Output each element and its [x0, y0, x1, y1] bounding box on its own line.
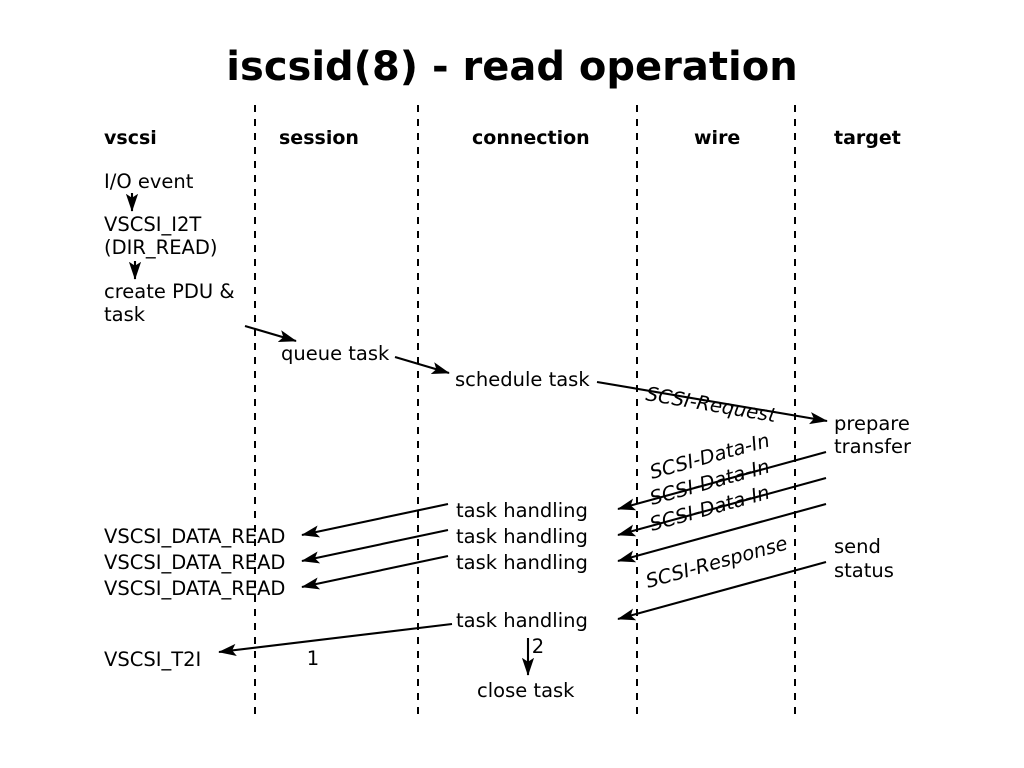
column-header-session: session: [279, 127, 359, 149]
node-vscsi-data-read-1: VSCSI_DATA_READ: [104, 525, 285, 548]
node-send: send: [834, 535, 881, 558]
node-vscsi-t2i: VSCSI_T2I: [104, 648, 201, 671]
step-number-1: 1: [307, 647, 319, 670]
node-task-handling-4: task handling: [456, 609, 588, 632]
node-close-task: close task: [477, 679, 575, 702]
node-vscsi-data-read-3: VSCSI_DATA_READ: [104, 577, 285, 600]
node-schedule-task: schedule task: [455, 368, 590, 391]
sequence-diagram: iscsid(8) - read operation vscsi session…: [0, 0, 1024, 768]
node-status: status: [834, 559, 894, 582]
step-number-2: 2: [532, 635, 544, 658]
node-dir-read: (DIR_READ): [104, 236, 218, 259]
node-vscsi-i2t: VSCSI_I2T: [104, 213, 201, 236]
node-queue-task: queue task: [281, 342, 390, 365]
node-task-handling-3: task handling: [456, 551, 588, 574]
node-task-handling-2: task handling: [456, 525, 588, 548]
node-prepare: prepare: [834, 412, 910, 435]
page-title: iscsid(8) - read operation: [226, 44, 797, 90]
column-header-vscsi: vscsi: [104, 127, 157, 149]
node-task-handling-1: task handling: [456, 499, 588, 522]
node-transfer: transfer: [834, 435, 912, 458]
node-create-pdu-task: task: [104, 303, 146, 326]
node-io-event: I/O event: [104, 170, 194, 193]
column-header-connection: connection: [472, 127, 590, 149]
sequence-diagram-canvas: iscsid(8) - read operation vscsi session…: [0, 0, 1024, 768]
column-header-target: target: [834, 127, 901, 149]
node-vscsi-data-read-2: VSCSI_DATA_READ: [104, 551, 285, 574]
column-header-wire: wire: [694, 127, 740, 149]
node-create-pdu: create PDU &: [104, 280, 235, 303]
